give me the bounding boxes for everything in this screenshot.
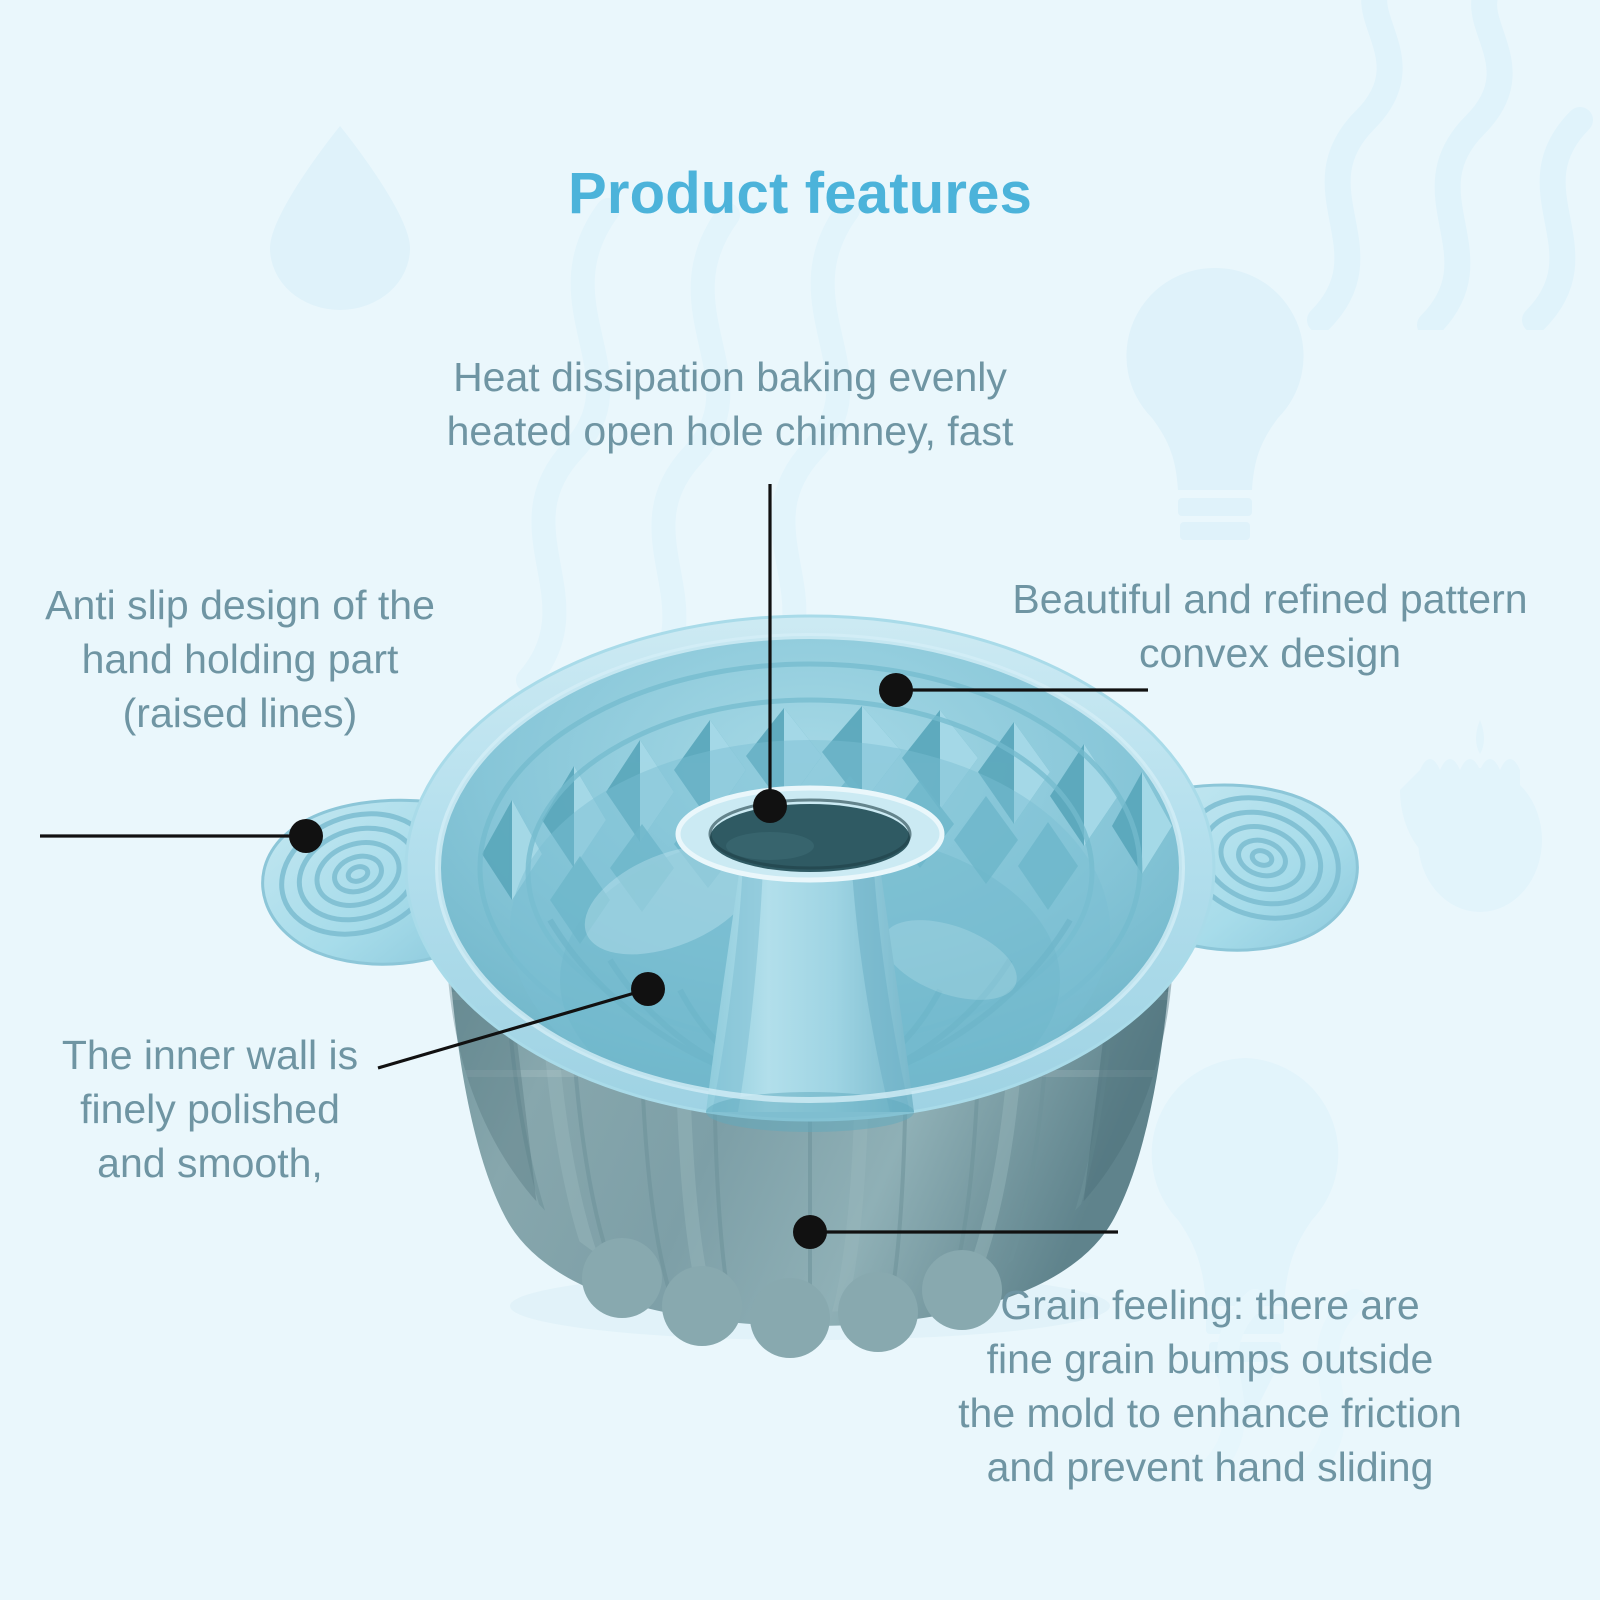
infographic-canvas: Product features Heat dissipation baking…	[0, 0, 1600, 1600]
callout-anti-slip: Anti slip design of the hand holding par…	[0, 578, 490, 740]
cupcake-icon	[1380, 690, 1580, 930]
callout-pattern-convex: Beautiful and refined pattern convex des…	[930, 572, 1600, 680]
page-title: Product features	[0, 160, 1600, 227]
callout-inner-wall: The inner wall is finely polished and sm…	[0, 1028, 420, 1190]
callout-heat-dissipation: Heat dissipation baking evenly heated op…	[330, 350, 1130, 458]
callout-grain-feeling: Grain feeling: there are fine grain bump…	[900, 1278, 1520, 1494]
